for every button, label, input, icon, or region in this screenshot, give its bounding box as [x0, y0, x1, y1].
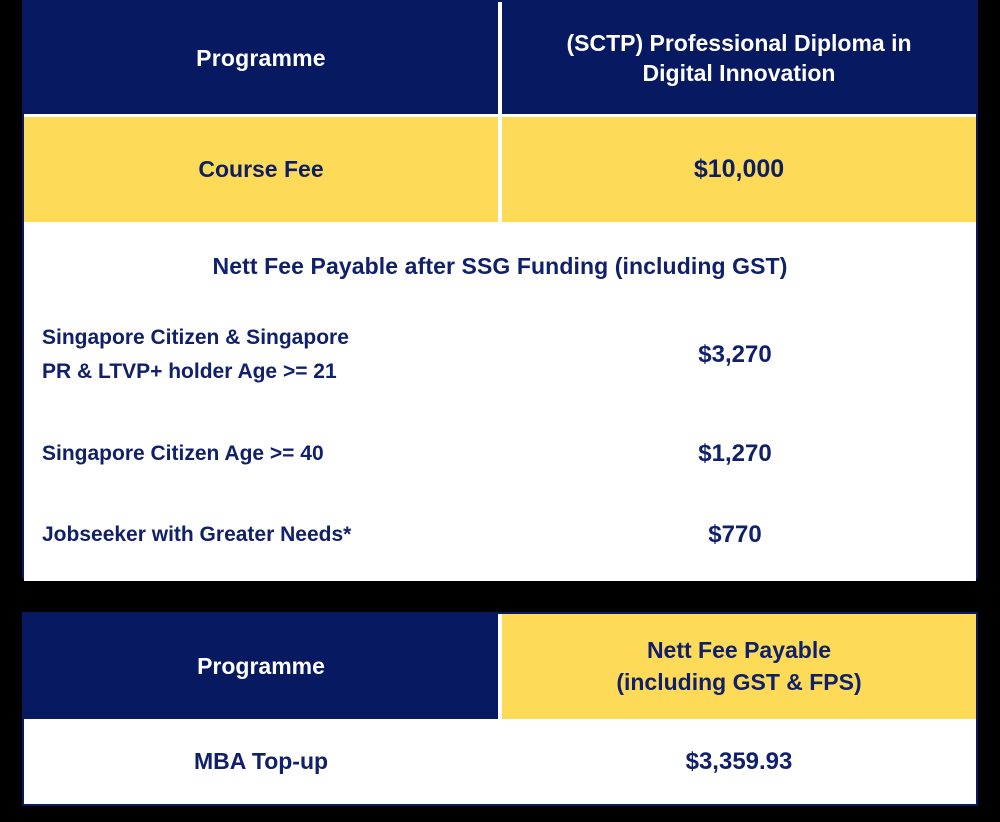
tier-label-line-1: Jobseeker with Greater Needs*	[42, 518, 498, 552]
fee-summary-page: Programme (SCTP) Professional Diploma in…	[0, 0, 1000, 822]
table-row: MBA Top-up $3,359.93	[24, 719, 976, 804]
table-row: Singapore Citizen Age >= 40 $1,270	[24, 437, 976, 471]
nett-fee-section: Nett Fee Payable after SSG Funding (incl…	[24, 225, 976, 581]
topup-programme-fee: $3,359.93	[502, 719, 976, 804]
programme-fee-table: Programme (SCTP) Professional Diploma in…	[22, 0, 978, 579]
tier-value-jobseeker-greater-needs: $770	[498, 521, 976, 549]
nett-fee-section-title: Nett Fee Payable after SSG Funding (incl…	[24, 225, 976, 280]
topup-header-programme: Programme	[24, 614, 498, 719]
tier-value-citizen-age-40: $1,270	[498, 440, 976, 468]
tier-label-jobseeker-greater-needs: Jobseeker with Greater Needs*	[24, 518, 498, 552]
topup-header-line-2: (including GST & FPS)	[616, 667, 861, 698]
course-fee-label: Course Fee	[24, 117, 498, 222]
fee-table-header-programme-name: (SCTP) Professional Diploma in Digital I…	[502, 2, 976, 114]
programme-name-line-1: (SCTP) Professional Diploma in	[566, 28, 911, 58]
programme-name-line-2: Digital Innovation	[566, 58, 911, 88]
table-row: Singapore Citizen & Singapore PR & LTVP+…	[24, 321, 976, 389]
tier-value-citizen-pr-ltvp: $3,270	[498, 341, 976, 369]
fee-table-header-programme: Programme	[24, 2, 498, 114]
topup-table-header-row: Programme Nett Fee Payable (including GS…	[24, 614, 976, 719]
fee-table-header-row: Programme (SCTP) Professional Diploma in…	[24, 2, 976, 114]
topup-fee-table: Programme Nett Fee Payable (including GS…	[22, 612, 978, 806]
tier-label-line-1: Singapore Citizen & Singapore	[42, 321, 498, 355]
course-fee-row: Course Fee $10,000	[24, 117, 976, 222]
topup-header-line-1: Nett Fee Payable	[616, 635, 861, 666]
tier-label-line-1: Singapore Citizen Age >= 40	[42, 437, 498, 471]
topup-header-nett-fee: Nett Fee Payable (including GST & FPS)	[502, 614, 976, 719]
tier-label-citizen-age-40: Singapore Citizen Age >= 40	[24, 437, 498, 471]
course-fee-value: $10,000	[502, 117, 976, 222]
tier-label-citizen-pr-ltvp: Singapore Citizen & Singapore PR & LTVP+…	[24, 321, 498, 389]
topup-programme-name: MBA Top-up	[24, 719, 498, 804]
tier-label-line-2: PR & LTVP+ holder Age >= 21	[42, 355, 498, 389]
table-row: Jobseeker with Greater Needs* $770	[24, 518, 976, 552]
